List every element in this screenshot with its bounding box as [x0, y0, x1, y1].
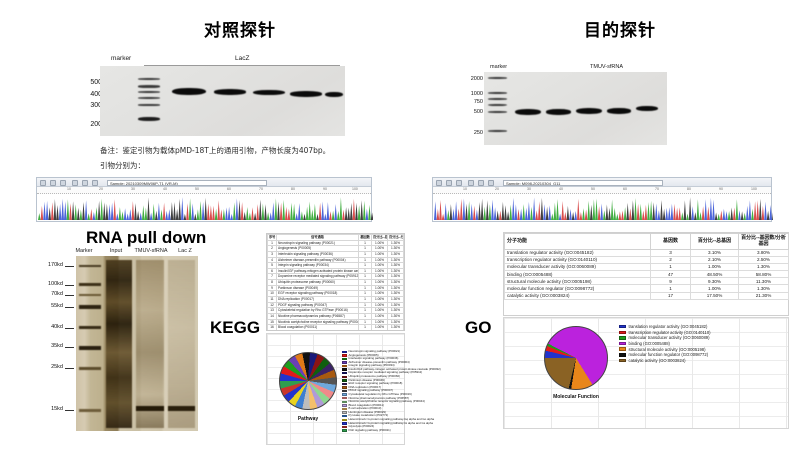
legend-item: translation regulator activity (GO:00451…	[619, 324, 787, 329]
table-cell: Insulin/IGF pathway-mitogen activated pr…	[277, 268, 359, 274]
control-ladder-500: 500	[30, 79, 102, 86]
table-row: translation regulator activity (GO:00451…	[505, 249, 789, 256]
sequencing-chromatogram-left[interactable]: Sample: 20210309MW06P-T1 (VR-M)_ 10 20 3…	[36, 177, 372, 222]
go-table-header-row: 分子功能 基因数 百分比--总基因 百分比--基因数/分析基因	[505, 234, 789, 250]
kegg-pie-chart	[279, 352, 337, 410]
kegg-label: KEGG	[210, 318, 260, 338]
table-cell: B cell activation (P00010)	[277, 330, 359, 331]
zoom-in-icon[interactable]	[72, 180, 78, 186]
print-icon[interactable]	[456, 180, 462, 186]
legend-swatch	[342, 386, 347, 388]
legend-item: binding (GO:0005488)	[619, 341, 787, 346]
ruler-tick: 60	[623, 187, 627, 191]
table-cell: 1.00%	[372, 330, 388, 331]
table-row: 17B cell activation (P00010)11.00%1.30%	[268, 330, 404, 331]
legend-item: structural molecule activity (GO:0005198…	[619, 347, 787, 352]
legend-swatch	[342, 358, 347, 360]
target-ladder-750: 750	[430, 99, 483, 105]
kegg-table-card: 序号 信号通路 基因数 百分比--总基因 百分比--分析基因 1Neurotro…	[266, 233, 405, 331]
target-ladder-500: 500	[430, 109, 483, 115]
target-marker-band	[488, 92, 507, 94]
control-marker-band	[138, 104, 160, 106]
ruler-tick: 30	[131, 187, 135, 191]
ruler-tick: 70	[655, 187, 659, 191]
ruler-tick: 10	[67, 187, 71, 191]
legend-label: translation regulator activity (GO:00451…	[629, 324, 708, 329]
table-row: 4Alzheimer disease-presenilin pathway (P…	[268, 257, 404, 263]
ruler-tick: 40	[163, 187, 167, 191]
sequencing-chromatogram-right[interactable]: Sample: M098-20210304_G11_ 10 20 30 40 5…	[432, 177, 772, 222]
legend-swatch	[619, 325, 626, 328]
pulldown-marker-band	[79, 283, 101, 286]
go-col-pct-total: 百分比--总基因	[691, 234, 739, 250]
pulldown-mw-line	[65, 328, 74, 329]
table-row: binding (GO:0005488)4748.50%58.80%	[505, 271, 789, 278]
legend-swatch	[342, 351, 347, 353]
ruler-tick: 20	[99, 187, 103, 191]
table-cell: transcription regulator activity (GO:014…	[505, 256, 651, 263]
pulldown-lane-marker: Marker	[73, 248, 95, 254]
legend-swatch	[342, 365, 347, 367]
sample-name-field-left[interactable]: Sample: 20210309MW06P-T1 (VR-M)_	[107, 180, 267, 186]
legend-label: molecular function regulator (GO:0098772…	[629, 352, 709, 357]
legend-item: FGF signaling pathway (P00021)	[342, 429, 406, 432]
target-probe-gel-panel: 目的探针 marker TMUV-sfRNA 2000 1000 750 500…	[470, 8, 770, 158]
legend-label: molecular transducer activity (GO:006008…	[629, 335, 710, 340]
go-pie-legend: translation regulator activity (GO:00451…	[619, 324, 787, 363]
go-pie-caption: Molecular Function	[539, 394, 613, 400]
legend-swatch	[342, 383, 347, 385]
pulldown-sfrna-band	[136, 406, 164, 411]
table-cell: Nicotinic acetylcholine receptor signali…	[277, 319, 359, 325]
table-row: molecular transducer activity (GO:006008…	[505, 263, 789, 270]
pulldown-mw-25: 25kd	[0, 364, 63, 370]
table-cell: catalytic activity (GO:0003824)	[505, 292, 651, 299]
legend-swatch	[619, 336, 626, 339]
table-row: molecular function regulator (GO:0098772…	[505, 285, 789, 292]
pulldown-mw-40: 40kd	[0, 324, 63, 330]
rna-pulldown-panel: RNA pull down Marker Input TMUV-sfRNA La…	[48, 228, 213, 443]
pulldown-mw-35: 35kd	[0, 343, 63, 349]
target-sample-band	[546, 109, 571, 115]
control-sample-band	[214, 89, 246, 95]
table-cell: 47	[651, 271, 691, 278]
table-cell: 1.30%	[739, 263, 789, 270]
rna-pulldown-title: RNA pull down	[86, 228, 206, 248]
table-row: structural molecule activity (GO:0005198…	[505, 278, 789, 285]
target-ladder-1000: 1000	[430, 91, 483, 97]
table-cell: 1	[359, 330, 372, 331]
settings-icon[interactable]	[92, 180, 98, 186]
kegg-pie-legend: Neurotropin signaling pathway (P00021)An…	[342, 350, 406, 432]
legend-item: molecular function regulator (GO:0098772…	[619, 352, 787, 357]
primer-note-line1: 备注：鉴定引物为载体pMD-18T上的通用引物，产物长度为407bp。	[100, 145, 330, 156]
legend-swatch	[342, 379, 347, 381]
legend-swatch	[619, 359, 626, 362]
legend-swatch	[342, 426, 347, 428]
table-cell: 17	[651, 292, 691, 299]
pulldown-mw-line	[65, 285, 74, 286]
control-sample-band	[172, 88, 206, 95]
control-ladder-400: 400	[30, 91, 102, 98]
legend-item: molecular transducer activity (GO:006008…	[619, 335, 787, 340]
table-cell: 21.30%	[739, 292, 789, 299]
ruler-tick: 40	[559, 187, 563, 191]
table-row: 7Dopamine receptor mediated signaling pa…	[268, 274, 404, 280]
ruler-tick: 10	[463, 187, 467, 191]
table-row: transcription regulator activity (GO:014…	[505, 256, 789, 263]
target-lane-group-label: TMUV-sfRNA	[590, 64, 623, 70]
legend-swatch	[342, 422, 347, 424]
go-col-function: 分子功能	[505, 234, 651, 250]
open-file-icon[interactable]	[40, 180, 46, 186]
control-marker-band	[138, 117, 160, 121]
ruler-tick: 50	[591, 187, 595, 191]
legend-swatch	[342, 415, 347, 417]
pulldown-lacz-smear	[168, 260, 195, 428]
pulldown-sfrna-smear	[136, 260, 164, 428]
pulldown-marker-band	[79, 367, 101, 370]
chromatogram-toolbar-left[interactable]: Sample: 20210309MW06P-T1 (VR-M)_	[37, 178, 371, 187]
table-cell: molecular function regulator (GO:0098772…	[505, 285, 651, 292]
legend-swatch	[619, 331, 626, 334]
table-cell: 2.50%	[739, 256, 789, 263]
pulldown-mw-line	[65, 347, 74, 348]
legend-label: structural molecule activity (GO:0005198…	[629, 347, 706, 352]
ruler-tick: 80	[291, 187, 295, 191]
table-cell: 1.00%	[691, 285, 739, 292]
target-marker-band	[488, 111, 507, 113]
table-cell: 11.30%	[739, 278, 789, 285]
go-col-pct-analyzed: 百分比--基因数/分析基因	[739, 234, 789, 250]
kegg-table-body: 1Neurotropin signaling pathway (P00021)1…	[268, 240, 404, 331]
control-ladder-200: 200	[30, 121, 102, 128]
chromatogram-ruler-left: 10 20 30 40 50 60 70 80 90 100	[37, 187, 371, 194]
legend-swatch	[342, 368, 347, 370]
table-cell: 1.00%	[691, 263, 739, 270]
pulldown-mw-line	[65, 410, 74, 411]
target-sample-band	[607, 108, 631, 114]
pulldown-marker-band	[79, 294, 101, 296]
legend-swatch	[342, 390, 347, 392]
pulldown-mw-line	[65, 295, 74, 296]
table-cell: 1	[651, 285, 691, 292]
kegg-col-pct-analyzed: 百分比--分析基因	[388, 235, 404, 241]
legend-swatch	[342, 411, 347, 413]
pulldown-lane-sfrna: TMUV-sfRNA	[132, 248, 170, 254]
go-pie-chart	[544, 326, 608, 390]
table-cell: 1.30%	[388, 330, 404, 331]
pulldown-lane-lacz: Lac Z	[174, 248, 196, 254]
zoom-out-icon[interactable]	[478, 180, 484, 186]
open-file-icon[interactable]	[436, 180, 442, 186]
legend-swatch	[342, 393, 347, 395]
pulldown-lane-input: Input	[106, 248, 126, 254]
control-marker-band	[138, 97, 160, 99]
legend-swatch	[342, 376, 347, 378]
ruler-tick: 100	[352, 187, 358, 191]
target-gel-image	[484, 72, 667, 145]
zoom-in-icon[interactable]	[468, 180, 474, 186]
go-col-gene-count: 基因数	[651, 234, 691, 250]
primer-note-line2: 引物分别为：	[100, 160, 145, 171]
legend-swatch	[342, 397, 347, 399]
target-sample-band	[636, 106, 658, 111]
pulldown-lacz-band	[168, 406, 195, 411]
pulldown-marker-band	[79, 409, 101, 412]
table-cell: Cytoskeletal regulation by Rho GTPase (P…	[277, 308, 359, 314]
pulldown-marker-band	[79, 265, 101, 267]
go-table: 分子功能 基因数 百分比--总基因 百分比--基因数/分析基因 translat…	[504, 233, 789, 300]
go-label: GO	[465, 318, 491, 338]
pulldown-mw-15: 15kd	[0, 406, 63, 412]
chromatogram-trace-left	[37, 194, 371, 220]
target-marker-band	[488, 98, 507, 100]
control-ladder-300: 300	[30, 102, 102, 109]
ruler-tick: 50	[195, 187, 199, 191]
ruler-tick: 90	[719, 187, 723, 191]
go-pie-card: Molecular Function translation regulator…	[503, 317, 789, 429]
legend-swatch	[619, 353, 626, 356]
ruler-tick: 20	[495, 187, 499, 191]
legend-item: transcription regulator activity (GO:014…	[619, 330, 787, 335]
target-marker-band	[488, 104, 507, 106]
pulldown-mw-170: 170kd	[0, 262, 63, 268]
pulldown-mw-55: 55kd	[0, 303, 63, 309]
kegg-col-index: 序号	[268, 235, 277, 241]
pulldown-marker-band	[79, 326, 101, 329]
table-cell: 3.10%	[691, 249, 739, 256]
table-cell: 17	[268, 330, 277, 331]
table-row: catalytic activity (GO:0003824)1717.50%2…	[505, 292, 789, 299]
pulldown-marker-band	[79, 346, 101, 350]
pulldown-mw-line	[65, 307, 74, 308]
control-probe-gel-panel: 对照探针 marker LacZ 500 400 300 200	[95, 8, 385, 158]
zoom-out-icon[interactable]	[82, 180, 88, 186]
legend-item: catalytic activity (GO:0003824)	[619, 358, 787, 363]
pulldown-gel-image	[76, 256, 198, 431]
table-cell: 17.50%	[691, 292, 739, 299]
kegg-pie-caption: Pathway	[279, 416, 337, 422]
table-cell: 3	[651, 249, 691, 256]
table-cell: translation regulator activity (GO:00451…	[505, 249, 651, 256]
table-cell: 1	[651, 263, 691, 270]
table-row: 13Cytoskeletal regulation by Rho GTPase …	[268, 308, 404, 314]
go-table-body: translation regulator activity (GO:00451…	[505, 249, 789, 299]
table-cell: binding (GO:0005488)	[505, 271, 651, 278]
table-cell: molecular transducer activity (GO:006008…	[505, 263, 651, 270]
legend-swatch	[342, 429, 347, 431]
legend-label: catalytic activity (GO:0003824)	[629, 358, 686, 363]
control-lane-group-label: LacZ	[235, 55, 249, 62]
ruler-tick: 70	[259, 187, 263, 191]
legend-swatch	[619, 342, 626, 345]
legend-swatch	[342, 404, 347, 406]
pulldown-mw-70: 70kd	[0, 291, 63, 297]
legend-swatch	[342, 401, 347, 403]
control-marker-label: marker	[111, 55, 131, 62]
print-icon[interactable]	[60, 180, 66, 186]
control-probe-title: 对照探针	[95, 16, 385, 41]
trace-svg-left	[37, 194, 373, 220]
target-marker-band	[488, 130, 507, 132]
pulldown-mw-line	[65, 368, 74, 369]
go-table-card: 分子功能 基因数 百分比--总基因 百分比--基因数/分析基因 translat…	[503, 232, 789, 316]
kegg-col-pct-total: 百分比--总基因	[372, 235, 388, 241]
table-cell: 9	[651, 278, 691, 285]
pulldown-mw-100: 100kd	[0, 281, 63, 287]
control-sample-band	[253, 90, 285, 95]
table-cell: structural molecule activity (GO:0005198…	[505, 278, 651, 285]
table-cell: 2.10%	[691, 256, 739, 263]
table-row: 14Nicotine pharmacodynamics pathway (P06…	[268, 313, 404, 319]
table-cell: 9.30%	[691, 278, 739, 285]
control-marker-band	[138, 91, 160, 93]
table-cell: 2	[651, 256, 691, 263]
target-marker-band	[488, 77, 507, 79]
ruler-tick: 60	[227, 187, 231, 191]
kegg-table: 序号 信号通路 基因数 百分比--总基因 百分比--分析基因 1Neurotro…	[267, 234, 404, 331]
chromatogram-ruler-right: 10 20 30 40 50 60 70 80 90 100	[433, 187, 771, 194]
control-marker-band	[138, 85, 160, 88]
table-cell: Dopamine receptor mediated signaling pat…	[277, 274, 359, 280]
ruler-tick: 30	[527, 187, 531, 191]
ruler-tick: 100	[751, 187, 757, 191]
legend-swatch	[342, 408, 347, 410]
table-cell: 3.80%	[739, 249, 789, 256]
chromatogram-toolbar-right[interactable]: Sample: M098-20210304_G11_	[433, 178, 771, 187]
chromatogram-trace-right	[433, 194, 771, 220]
legend-label: transcription regulator activity (GO:014…	[629, 330, 711, 335]
ruler-tick: 90	[323, 187, 327, 191]
control-sample-band	[290, 91, 322, 97]
target-marker-label: marker	[490, 64, 507, 70]
ruler-tick: 80	[687, 187, 691, 191]
pulldown-marker-band	[79, 305, 101, 309]
kegg-col-genes: 基因数	[359, 235, 372, 241]
table-cell: 1.30%	[739, 285, 789, 292]
settings-icon[interactable]	[488, 180, 494, 186]
kegg-pie-card: Pathway Neurotropin signaling pathway (P…	[266, 333, 405, 445]
table-cell: 58.80%	[739, 271, 789, 278]
pulldown-mw-line	[65, 266, 74, 267]
table-cell: 48.50%	[691, 271, 739, 278]
save-icon[interactable]	[50, 180, 56, 186]
control-gel-image	[100, 66, 345, 136]
save-icon[interactable]	[446, 180, 452, 186]
target-sample-band	[576, 108, 602, 114]
legend-swatch	[342, 354, 347, 356]
control-sample-band	[325, 92, 343, 97]
sample-name-field-right[interactable]: Sample: M098-20210304_G11_	[503, 180, 663, 186]
table-row: 6Insulin/IGF pathway-mitogen activated p…	[268, 268, 404, 274]
legend-swatch	[342, 372, 347, 374]
trace-svg-right	[433, 194, 773, 220]
legend-swatch	[342, 361, 347, 363]
table-row: 15Nicotinic acetylcholine receptor signa…	[268, 319, 404, 325]
table-row: 10EGF receptor signaling pathway (P00018…	[268, 291, 404, 297]
legend-swatch	[342, 419, 347, 421]
target-probe-title: 目的探针	[470, 16, 770, 41]
legend-label: FGF signaling pathway (P00021)	[349, 429, 391, 432]
target-ladder-2000: 2000	[430, 76, 483, 82]
control-marker-band	[138, 78, 160, 80]
legend-label: binding (GO:0005488)	[629, 341, 670, 346]
target-sample-band	[515, 109, 541, 115]
legend-swatch	[619, 347, 626, 350]
target-ladder-250: 250	[430, 130, 483, 136]
pulldown-input-smear	[106, 260, 132, 428]
